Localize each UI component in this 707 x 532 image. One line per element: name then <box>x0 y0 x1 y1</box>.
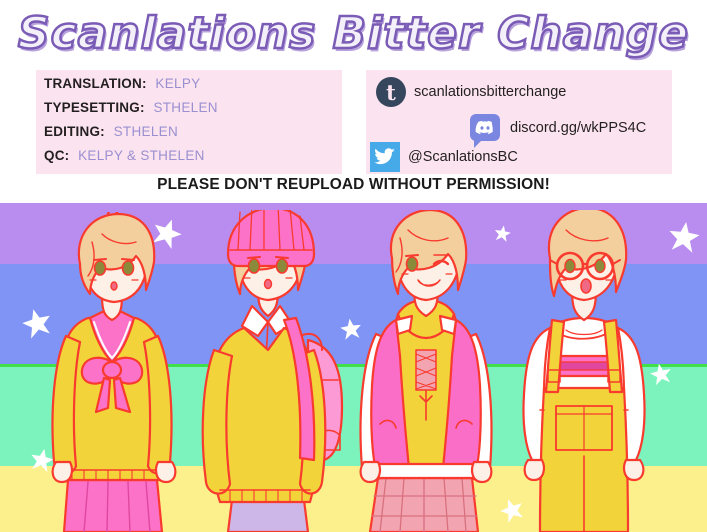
credit-role-label: QC: <box>44 148 69 163</box>
credit-row: TYPESETTING: STHELEN <box>44 100 218 115</box>
tumblr-glyph: t <box>386 82 396 103</box>
social-links-panel: t scanlationsbitterchange discord.gg/wkP… <box>366 70 672 174</box>
star-icon <box>666 219 702 255</box>
credit-role-label: TRANSLATION: <box>44 76 147 91</box>
character-sailor-uniform <box>44 212 184 532</box>
reupload-warning: PLEASE DON'T REUPLOAD WITHOUT PERMISSION… <box>0 176 707 194</box>
header-section: Scanlations Bitter Change TRANSLATION: K… <box>0 0 707 203</box>
credit-name-value: KELPY <box>155 76 200 91</box>
twitter-handle: @ScanlationsBC <box>408 149 518 165</box>
credit-row: QC: KELPY & STHELEN <box>44 148 205 163</box>
credit-name-value: STHELEN <box>114 124 178 139</box>
credit-row: EDITING: STHELEN <box>44 124 178 139</box>
twitter-icon <box>370 142 400 172</box>
discord-icon <box>470 114 500 141</box>
credit-name-value: STHELEN <box>153 100 217 115</box>
tumblr-icon: t <box>376 77 406 107</box>
character-overalls-glasses <box>510 210 658 532</box>
credit-name-value: KELPY & STHELEN <box>78 148 205 163</box>
credits-panel: TRANSLATION: KELPY TYPESETTING: STHELEN … <box>36 70 342 174</box>
discord-face-glyph <box>475 120 495 135</box>
illustration-section <box>0 203 707 532</box>
scanlation-credits-page: Scanlations Bitter Change TRANSLATION: K… <box>0 0 707 532</box>
credit-row: TRANSLATION: KELPY <box>44 76 200 91</box>
discord-handle: discord.gg/wkPPS4C <box>510 120 646 136</box>
social-link-discord[interactable]: discord.gg/wkPPS4C <box>470 114 646 141</box>
credit-role-label: TYPESETTING: <box>44 100 145 115</box>
tumblr-handle: scanlationsbitterchange <box>414 84 566 100</box>
page-title: Scanlations Bitter Change <box>0 8 707 59</box>
credit-role-label: EDITING: <box>44 124 105 139</box>
character-varsity-jacket <box>352 210 500 532</box>
social-link-tumblr[interactable]: t scanlationsbitterchange <box>376 77 566 107</box>
twitter-bird-glyph <box>374 148 396 166</box>
character-beanie-backpack <box>196 210 348 532</box>
social-link-twitter[interactable]: @ScanlationsBC <box>370 142 518 172</box>
